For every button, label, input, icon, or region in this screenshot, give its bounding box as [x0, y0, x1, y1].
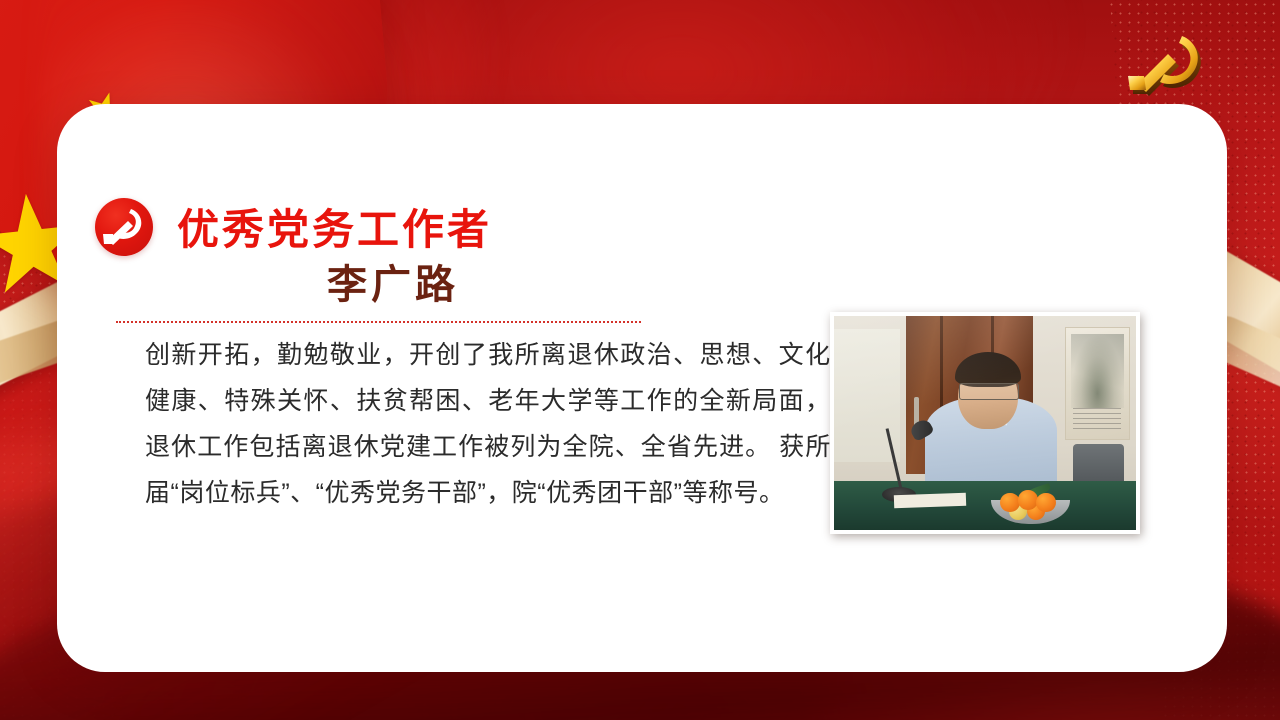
- dotted-divider: [116, 321, 641, 323]
- body-paragraph: 创新开拓，勤勉敬业，开创了我所离退休政治、思想、文化、健康、特殊关怀、扶贫帮困、…: [145, 332, 857, 516]
- photo-fruit-orange-2: [1000, 493, 1020, 512]
- content-card: 优秀党务工作者 李广路 创新开拓，勤勉敬业，开创了我所离退休政治、思想、文化、健…: [57, 104, 1227, 672]
- person-photo-image: [834, 316, 1136, 530]
- header-block: 优秀党务工作者 李广路: [95, 196, 695, 316]
- hammer-and-sickle-gold-icon: [1120, 28, 1224, 100]
- photo-hanging-scroll: [1065, 327, 1130, 440]
- photo-fruit-orange-3: [1018, 490, 1038, 509]
- person-photo: [830, 312, 1140, 534]
- photo-papers: [894, 492, 967, 507]
- page-title: 优秀党务工作者: [177, 196, 492, 257]
- photo-fruit-orange-4: [1036, 493, 1056, 512]
- photo-person-glasses: [959, 383, 1018, 400]
- photo-table: [834, 481, 1136, 530]
- photo-scroll-painting: [1071, 334, 1124, 407]
- photo-scroll-calligraphy: [1073, 408, 1121, 432]
- slide-root: ★ ★ ★ ★ ★: [0, 0, 1280, 720]
- hammer-and-sickle-icon: [95, 198, 153, 256]
- person-name: 李广路: [177, 252, 609, 310]
